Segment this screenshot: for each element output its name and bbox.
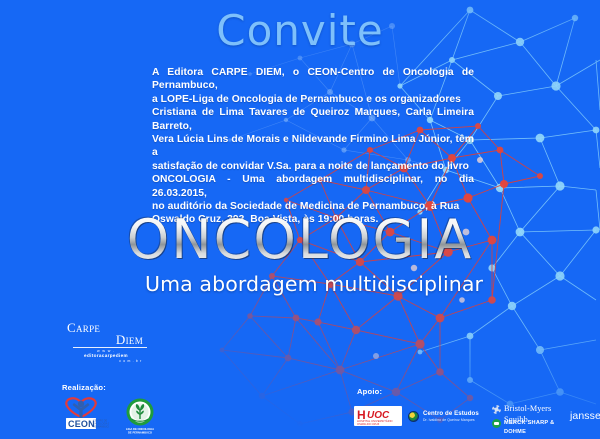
sponsor-logo-merck-sharp-dohme: MERCK SHARP & DOHME [492, 418, 576, 430]
svg-text:PERNAMBUCO: PERNAMBUCO [93, 426, 109, 429]
sponsor-logo-centro-de-estudos: Centro de Estudos Dr. Ivaldino de Queiro… [408, 408, 486, 426]
publisher-tld: c o m . b r [63, 359, 149, 363]
globe-icon [408, 411, 419, 422]
body-line: A Editora CARPE DIEM, o CEON-Centro de O… [152, 66, 474, 93]
janssen-name: janssen [570, 410, 600, 423]
book-title: ONCOLOGIA [0, 212, 600, 268]
invitation-poster: Convite A Editora CARPE DIEM, o CEON-Cen… [0, 0, 600, 439]
body-line: a LOPE-Liga de Oncologia de Pernambuco e… [152, 93, 474, 106]
body-line: Vera Lúcia Lins de Morais e Nildevande F… [152, 133, 474, 160]
invitation-body: A Editora CARPE DIEM, o CEON-Centro de O… [152, 66, 474, 227]
huoc-caption: HOSPITAL UNIVERSITÁRIO OSWALDO CRUZ [357, 420, 401, 426]
publisher-divider [73, 347, 147, 348]
msd-emblem-icon [492, 419, 501, 428]
svg-text:CEON: CEON [68, 419, 95, 429]
sponsor-logo-huoc: H UOC HOSPITAL UNIVERSITÁRIO OSWALDO CRU… [354, 406, 402, 426]
centro-caption: Dr. Ivaldino de Queiroz Marques [423, 418, 475, 422]
ceon-logo: CEON CENTRO DE ONCOLOGIA DE PERNAMBUCO [57, 394, 109, 436]
svg-text:LIGA DE ONCOLOGIA: LIGA DE ONCOLOGIA [126, 427, 154, 431]
sponsor-logos: H UOC HOSPITAL UNIVERSITÁRIO OSWALDO CRU… [352, 402, 596, 436]
body-line: satisfação de convidar V.Sa. para a noit… [152, 160, 474, 173]
book-subtitle: Uma abordagem multidisciplinar [0, 272, 600, 296]
centro-name: Centro de Estudos [423, 410, 479, 417]
sponsor-logo-janssen: janssen [570, 407, 600, 429]
bms-emblem-icon [492, 405, 501, 414]
body-line: ONCOLOGIA - Uma abordagem multidisciplin… [152, 173, 474, 200]
sponsor-logo-bristol-myers-squibb: Bristol-Myers Squibb [492, 403, 572, 416]
msd-name: MERCK SHARP & DOHME [504, 419, 576, 437]
publisher-logo-carpe-diem: Carpe Diem w w w . editoracarpediem c o … [63, 322, 149, 363]
person-icon [73, 401, 90, 418]
body-line: Cristiana de Lima Tavares de Queiroz Mar… [152, 106, 474, 133]
svg-text:DE PERNAMBUCO: DE PERNAMBUCO [128, 430, 152, 434]
huoc-uoc-letters: UOC [367, 410, 389, 421]
lope-logo: LIGA DE ONCOLOGIA DE PERNAMBUCO [118, 396, 162, 436]
realizacao-label: Realização: [62, 383, 106, 392]
apoio-label: Apoio: [357, 387, 382, 396]
page-title: Convite [0, 6, 600, 55]
